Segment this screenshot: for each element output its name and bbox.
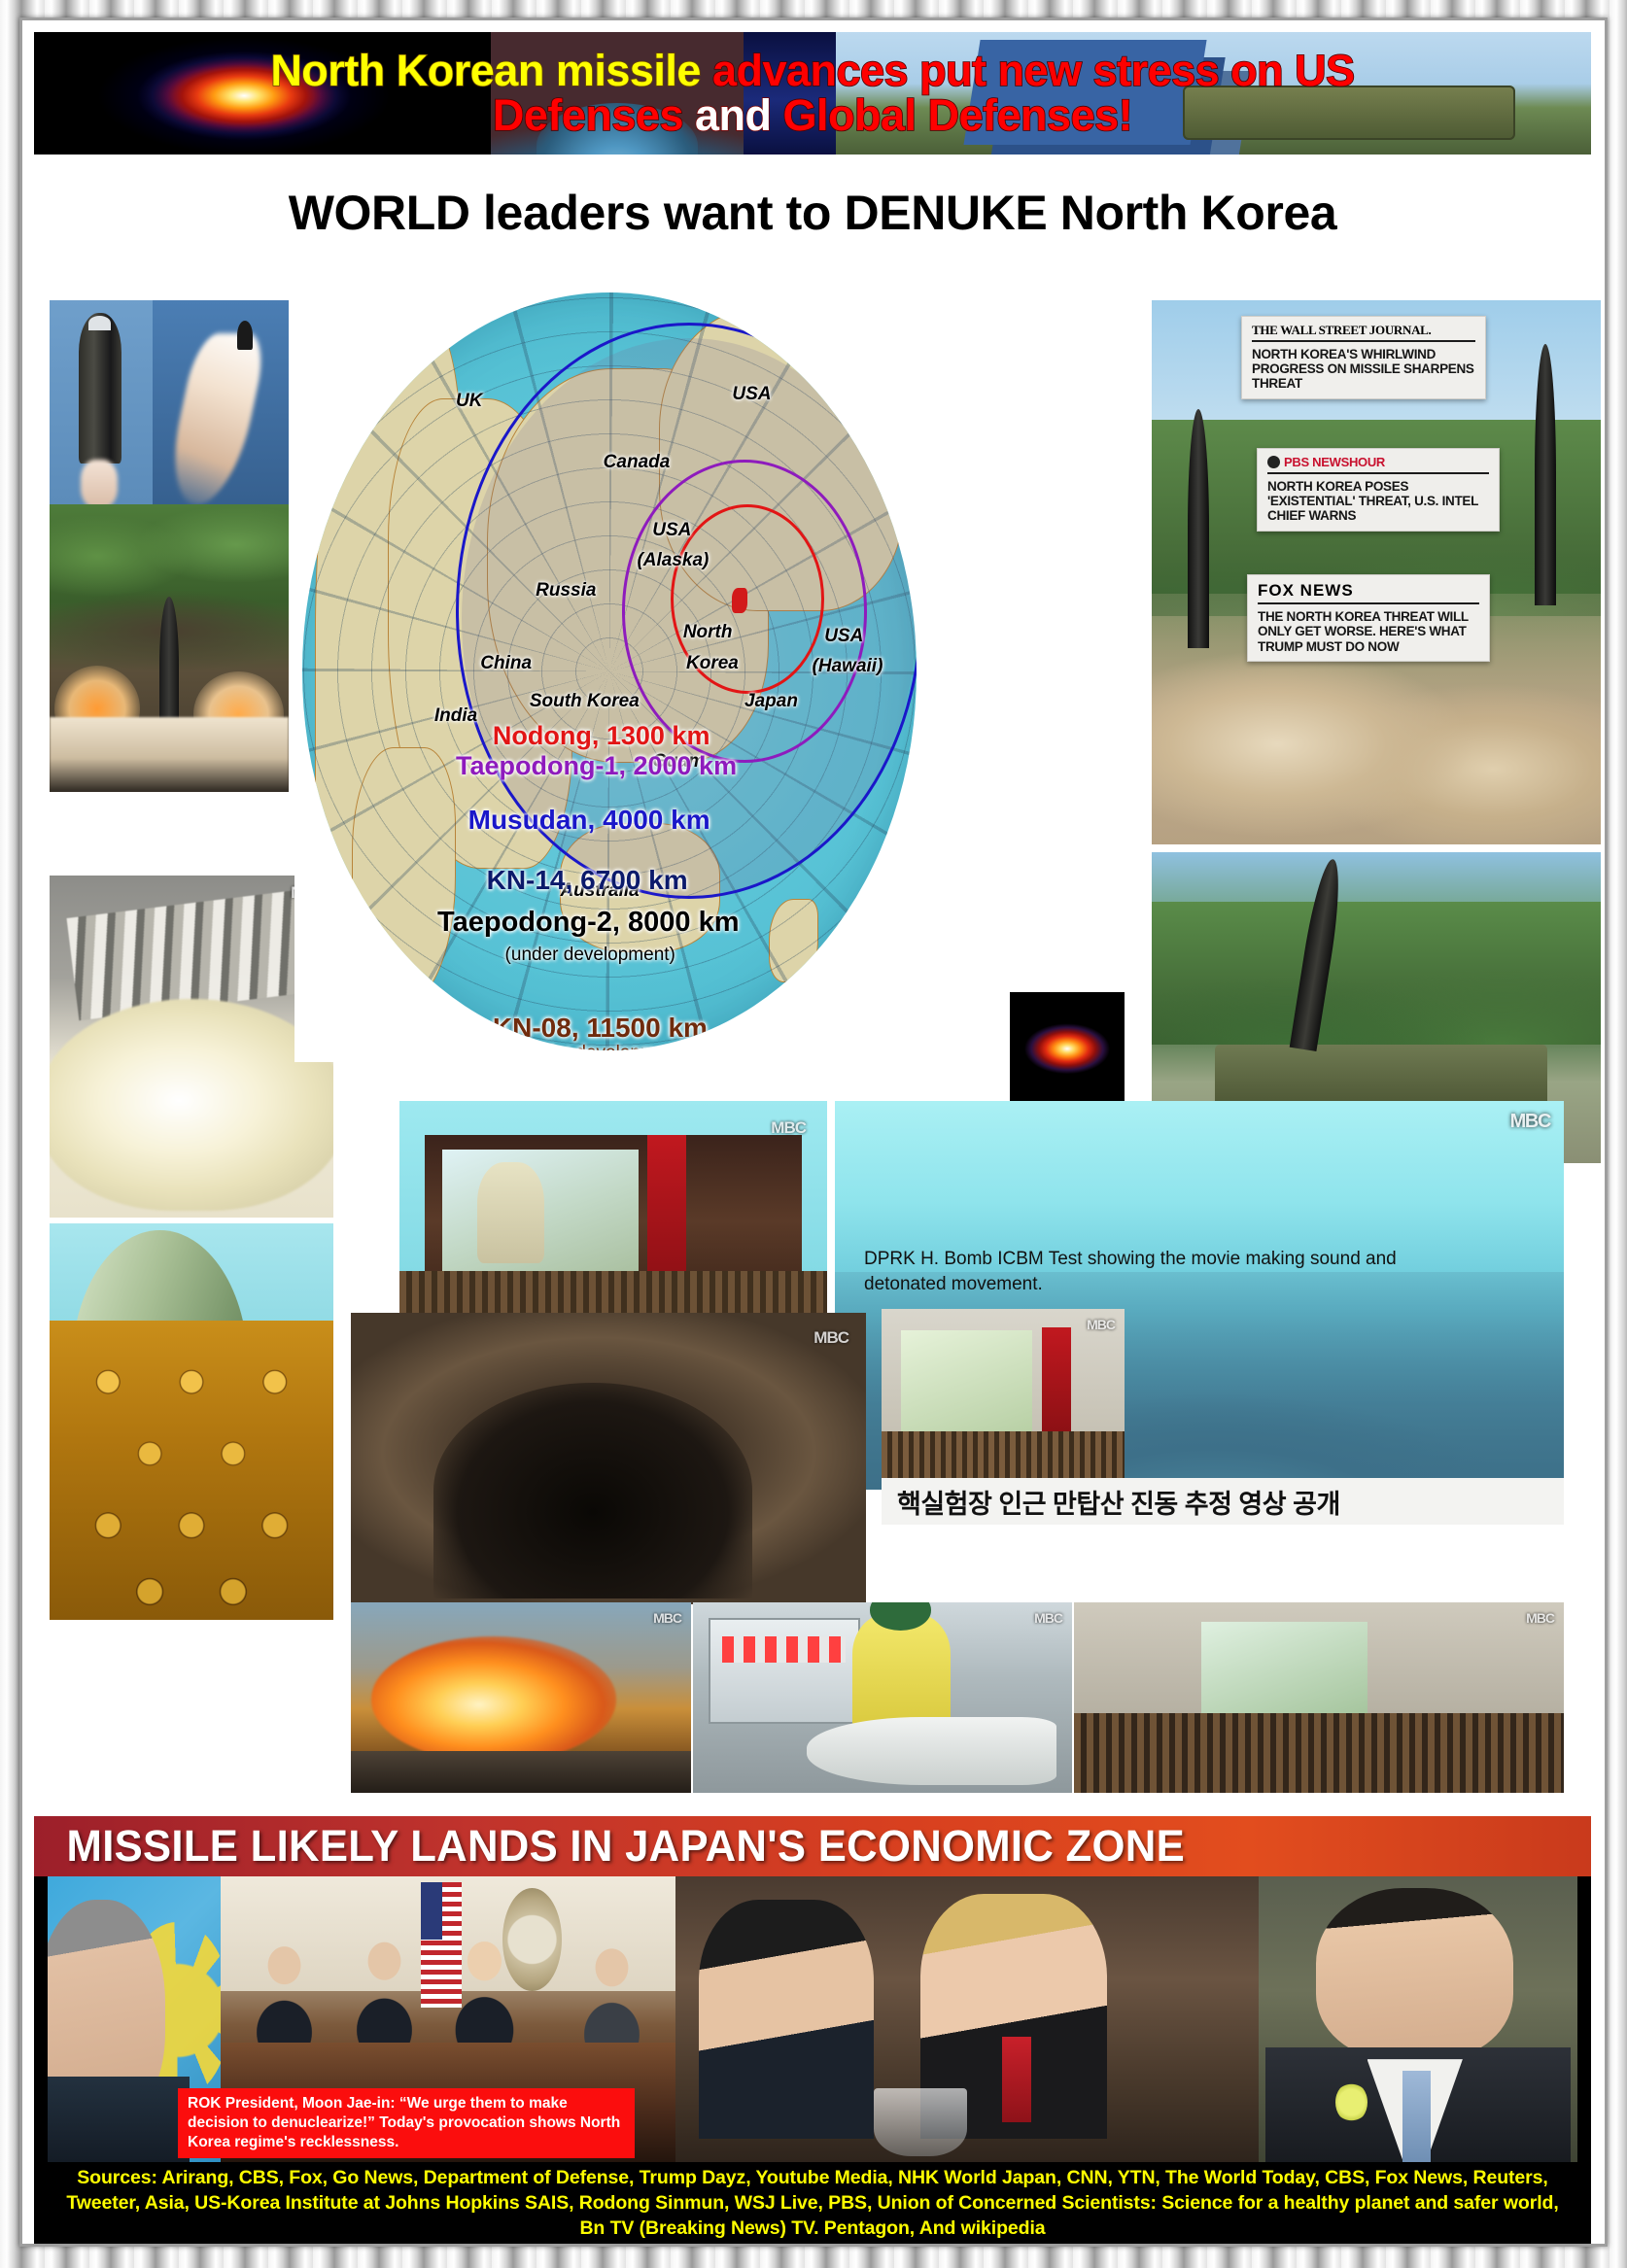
missile-in-flight-photo xyxy=(153,300,289,504)
title-line2-red-b: Global Defenses! xyxy=(783,90,1133,140)
range-label-musudan: Musudan, 4000 km xyxy=(468,805,710,836)
aerial-launcher-convoy-photo: MBC xyxy=(50,876,333,1218)
map-label-south-korea: South Korea xyxy=(530,691,640,712)
map-label-hawaii-line1: USA xyxy=(824,626,863,647)
poster-title: North Korean missile advances put new st… xyxy=(34,32,1591,155)
missile-launch-field-photo xyxy=(50,504,289,792)
xi-trump-meeting-photo xyxy=(675,1876,1259,2162)
range-note-kn08: (under development) xyxy=(517,1043,687,1050)
news-card-pbs: PBS NEWSHOUR NORTH KOREA POSES 'EXISTENT… xyxy=(1257,448,1500,532)
landmass-south-america xyxy=(352,747,456,1005)
map-label-japan: Japan xyxy=(744,691,798,712)
map-label-china: China xyxy=(480,653,532,674)
missile-range-map: UK USA Canada USA (Alaska) Russia China … xyxy=(294,285,924,1062)
subtitle-text: WORLD leaders want to DENUKE North Korea xyxy=(289,185,1337,241)
map-label-north-korea-line2: Korea xyxy=(686,653,739,674)
nk-assembly-hall-screen-photo: MBC xyxy=(399,1101,827,1344)
news-card-fox: FOX NEWS THE NORTH KOREA THREAT WILL ONL… xyxy=(1247,574,1490,662)
news-source-pbs: PBS NEWSHOUR xyxy=(1284,455,1385,469)
title-line2-and: and xyxy=(695,90,783,140)
mbc-watermark-icon-5: MBC xyxy=(1087,1317,1115,1332)
map-label-usa: USA xyxy=(732,384,771,405)
range-label-kn08: KN-08, 11500 km xyxy=(493,1013,708,1044)
range-label-kn14: KN-14, 6700 km xyxy=(487,865,688,896)
pbs-logo-icon xyxy=(1267,456,1280,468)
hbomb-inspection-photo: MBC xyxy=(693,1602,1072,1793)
range-label-taepodong2: Taepodong-2, 8000 km xyxy=(437,907,740,939)
dprk-video-caption: DPRK H. Bomb ICBM Test showing the movie… xyxy=(864,1247,1447,1296)
map-label-canada: Canada xyxy=(604,452,671,473)
map-label-alaska-line1: USA xyxy=(652,520,691,541)
moon-jae-in-quote-caption: ROK President, Moon Jae-in: “We urge the… xyxy=(178,2088,635,2158)
warhead-array-photo xyxy=(50,1321,333,1620)
map-label-alaska-line2: (Alaska) xyxy=(637,550,709,571)
polar-projection-globe: UK USA Canada USA (Alaska) Russia China … xyxy=(302,292,917,1050)
korean-news-banner: 핵실험장 인근 만탑산 진동 추정 영상 공개 xyxy=(882,1478,1564,1525)
range-label-nodong: Nodong, 1300 km xyxy=(493,721,710,751)
news-headline-wsj: NORTH KOREA'S WHIRLWIND PROGRESS ON MISS… xyxy=(1252,347,1475,391)
nuclear-blast-thermal-small-image xyxy=(1010,992,1125,1101)
title-line2-red-a: Defenses xyxy=(493,90,695,140)
news-headline-pbs: NORTH KOREA POSES 'EXISTENTIAL' THREAT, … xyxy=(1267,479,1489,523)
poster-root: North Korean missile advances put new st… xyxy=(0,0,1627,2268)
missile-lands-banner-text: MISSILE LIKELY LANDS IN JAPAN'S ECONOMIC… xyxy=(52,1821,1185,1872)
mbc-watermark-icon-2: MBC xyxy=(771,1118,806,1138)
map-label-russia: Russia xyxy=(536,580,596,601)
landmass-new-zealand xyxy=(769,899,818,982)
news-source-fox: FOX NEWS xyxy=(1258,582,1479,599)
mbc-watermark-icon-6: MBC xyxy=(653,1610,681,1626)
title-line1-yellow: North Korean missile xyxy=(270,46,712,95)
map-label-north-korea-line1: North xyxy=(683,622,733,643)
nk-ceremony-hall-photo: MBC xyxy=(1074,1602,1564,1793)
icbm-warhead-photo xyxy=(50,300,153,504)
news-card-wsj: THE WALL STREET JOURNAL. NORTH KOREA'S W… xyxy=(1241,316,1486,399)
subtitle-bar: WORLD leaders want to DENUKE North Korea xyxy=(34,158,1591,267)
sources-bar: Sources: Arirang, CBS, Fox, Go News, Dep… xyxy=(34,2162,1591,2244)
shinzo-abe-photo xyxy=(1259,1876,1577,2162)
north-korea-marker xyxy=(732,588,747,613)
mbc-watermark-icon-4: MBC xyxy=(813,1328,848,1348)
range-note-taepodong2: (under development) xyxy=(505,945,675,966)
engine-test-fire-photo: MBC xyxy=(351,1602,691,1793)
map-label-india: India xyxy=(434,705,477,727)
map-label-hawaii-line2: (Hawaii) xyxy=(813,656,883,677)
missile-launch-news-photo: THE WALL STREET JOURNAL. NORTH KOREA'S W… xyxy=(1152,300,1601,844)
mbc-watermark-icon-3: MBC xyxy=(1510,1111,1550,1133)
range-label-taepodong1: Taepodong-1, 2000 km xyxy=(456,751,737,781)
poster-stage: North Korean missile advances put new st… xyxy=(22,20,1607,2247)
missile-lands-banner: MISSILE LIKELY LANDS IN JAPAN'S ECONOMIC… xyxy=(34,1816,1591,1876)
sources-text: Sources: Arirang, CBS, Fox, Go News, Dep… xyxy=(52,2165,1574,2241)
poster-frame: North Korean missile advances put new st… xyxy=(19,17,1608,2247)
news-source-wsj: THE WALL STREET JOURNAL. xyxy=(1252,324,1475,336)
test-site-tunnel-photo: MBC xyxy=(351,1313,866,1604)
title-banner: North Korean missile advances put new st… xyxy=(34,32,1591,155)
mbc-watermark-icon-8: MBC xyxy=(1526,1610,1554,1626)
korean-news-banner-text: 핵실험장 인근 만탑산 진동 추정 영상 공개 xyxy=(882,1483,1340,1521)
nk-assembly-hall-small-photo: MBC xyxy=(882,1309,1125,1490)
map-label-uk: UK xyxy=(456,391,482,412)
title-line1-red: advances put new stress on US xyxy=(712,46,1355,95)
news-headline-fox: THE NORTH KOREA THREAT WILL ONLY GET WOR… xyxy=(1258,609,1479,653)
mbc-watermark-icon-7: MBC xyxy=(1034,1610,1062,1626)
